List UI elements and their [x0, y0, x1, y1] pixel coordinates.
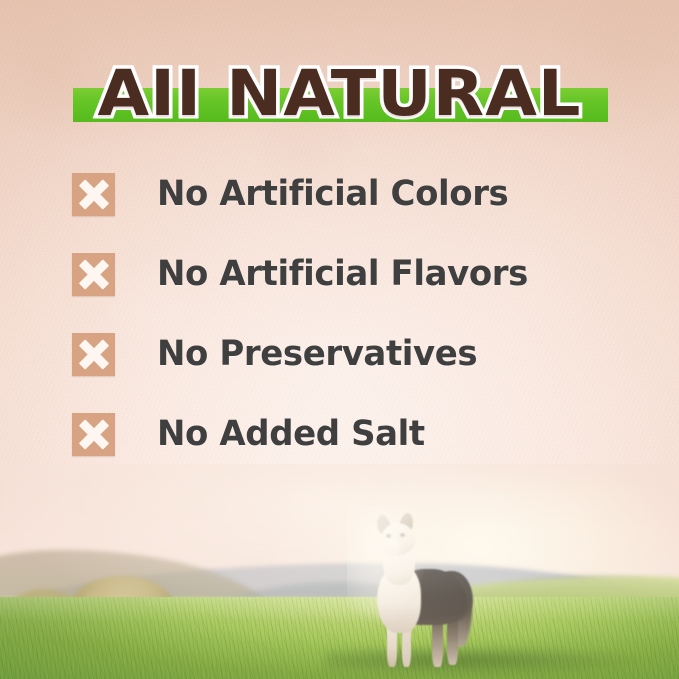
feature-label: No Artificial Flavors: [157, 253, 528, 296]
feature-item-no-added-salt: No Added Salt: [72, 413, 632, 456]
x-mark-icon: [72, 333, 115, 376]
x-mark-icon: [72, 413, 115, 456]
feature-item-no-preservatives: No Preservatives: [72, 333, 632, 376]
x-mark-icon: [72, 173, 115, 216]
dog-left-eye: [386, 534, 391, 538]
x-mark-icon: [72, 253, 115, 296]
feature-label: No Preservatives: [157, 333, 477, 376]
headline-banner: AII NATURAL: [0, 52, 679, 136]
feature-label: No Artificial Colors: [157, 173, 508, 216]
headline-title: AII NATURAL: [0, 52, 679, 136]
dog-muzzle: [380, 539, 400, 556]
feature-list: No Artificial Colors No Artificial Flavo…: [72, 173, 632, 456]
landscape-photo: [0, 464, 679, 679]
feature-item-no-artificial-colors: No Artificial Colors: [72, 173, 632, 216]
dog-right-eye: [400, 533, 405, 537]
all-natural-product-poster: AII NATURAL No Artificial Colors No Arti…: [0, 0, 679, 679]
border-collie-dog: [355, 511, 479, 671]
feature-label: No Added Salt: [157, 413, 425, 456]
feature-item-no-artificial-flavors: No Artificial Flavors: [72, 253, 632, 296]
